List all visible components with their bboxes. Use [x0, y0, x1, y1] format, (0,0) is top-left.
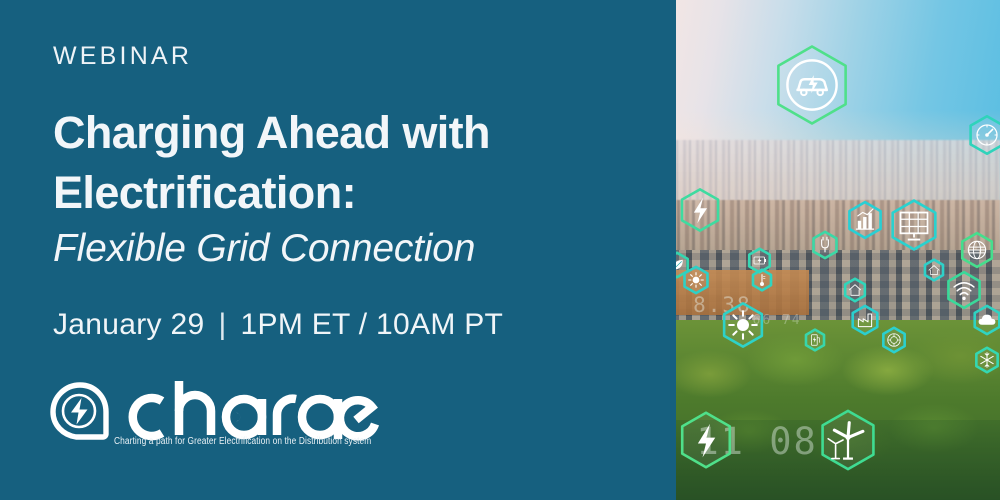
- hero-photo-panel: 8.38 11 08 66 74: [670, 0, 1000, 500]
- title-block: Charging Ahead with Electrification: Fle…: [53, 103, 670, 275]
- temperature-icon: [751, 269, 773, 291]
- gauge-icon: [967, 115, 1000, 155]
- house-roof-icon: [923, 259, 945, 281]
- sun-icon: [682, 266, 710, 294]
- page-title-line-2: Electrification:: [53, 163, 670, 223]
- logo-tagline: Charting a path for Greater Electrificat…: [114, 435, 371, 447]
- wind-turbine-icon: [817, 409, 879, 471]
- solar-panel-icon: [888, 199, 940, 251]
- snowflake-icon: [974, 347, 1000, 373]
- charge-station-icon: [804, 329, 826, 351]
- speech-bubble-lightning-bolt-icon: [50, 382, 110, 445]
- globe-icon: [959, 232, 995, 268]
- sun-rays-icon: [720, 302, 766, 348]
- lightning-bolt-icon: [678, 188, 722, 232]
- lightning-bolt-icon: [677, 411, 735, 469]
- event-date: January 29: [53, 308, 204, 342]
- page-subtitle: Flexible Grid Connection: [53, 223, 670, 276]
- bar-chart-icon: [846, 201, 884, 239]
- panel-left-edge: [670, 0, 676, 500]
- page-title-line-1: Charging Ahead with: [53, 103, 670, 163]
- meter-icon: [881, 327, 907, 353]
- home-icon: [843, 278, 867, 302]
- eyebrow-label: WEBINAR: [53, 44, 670, 69]
- event-datetime: January 29 | 1PM ET / 10AM PT: [53, 308, 670, 342]
- datetime-separator: |: [218, 308, 226, 342]
- plug-icon: [811, 231, 839, 259]
- aerial-cityscape-photo: 8.38 11 08 66 74: [670, 0, 1000, 500]
- wifi-icon: [945, 271, 983, 309]
- cloud-icon: [972, 305, 1000, 335]
- event-time: 1PM ET / 10AM PT: [241, 308, 504, 342]
- factory-icon: [850, 305, 880, 335]
- left-text-panel: WEBINAR Charging Ahead with Electrificat…: [0, 0, 670, 500]
- electric-vehicle-icon: [771, 44, 853, 126]
- charged-logo: Charting a path for Greater Electrificat…: [50, 375, 390, 465]
- webinar-promo-banner: WEBINAR Charging Ahead with Electrificat…: [0, 0, 1000, 500]
